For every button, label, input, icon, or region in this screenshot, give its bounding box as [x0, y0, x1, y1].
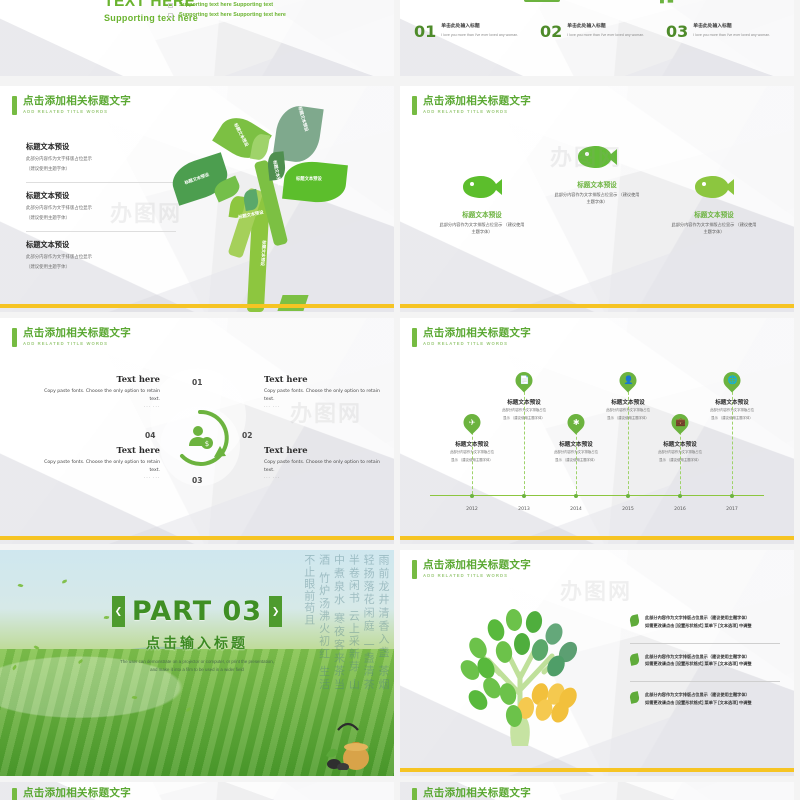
slide-bottom-right-preview[interactable]: 点击添加相关标题文字 ADD RELATED TITLE WORDS	[400, 782, 794, 800]
step-number-03: 03	[192, 476, 202, 485]
slide-leaf-tree[interactable]: 点击添加相关标题文字 ADD RELATED TITLE WORDS 标题文本预…	[0, 86, 394, 312]
slide-bottom-left-preview[interactable]: 点击添加相关标题文字 ADD RELATED TITLE WORDS	[0, 782, 394, 800]
fish-icon	[575, 144, 619, 170]
item-body: I love you more than I've ever loved any…	[693, 32, 770, 38]
slide-circular-four[interactable]: 点击添加相关标题文字 ADD RELATED TITLE WORDS $ 01 …	[0, 318, 394, 544]
list-item[interactable]: 01 单击此处输入标题 I love you more than I've ev…	[414, 22, 534, 40]
timeline-caption[interactable]: 标题文本预设 此部分内容作为文字排版占位 显示 （建议使用主题字体）	[633, 440, 727, 463]
list-item[interactable]: 02 单击此处输入标题 I love you more than I've ev…	[540, 22, 660, 40]
item-heading: 标题文本预设	[477, 398, 571, 406]
page-subtitle: ADD RELATED TITLE WORDS	[423, 342, 531, 346]
slide-green-tree[interactable]: 点击添加相关标题文字 ADD RELATED TITLE WORDS	[400, 550, 794, 776]
item-dots: ... ...	[264, 403, 384, 408]
timeline-year: 2013	[518, 507, 530, 512]
item-body-line1: 此部分内容作为文字排版占位显示（建议使用主题字体）	[645, 653, 752, 661]
page-title: 点击添加相关标题文字	[23, 788, 131, 799]
item-body-line2: 显示 （建议使用主题字体）	[633, 458, 727, 464]
step-number-04: 04	[145, 431, 155, 440]
green-accent-block	[524, 0, 560, 2]
item-body-line1: 此部分内容作为文字排版占位显示（建议使用主题字体）	[645, 614, 752, 622]
item-body-line1: 此部分内容作为文字排版占位	[425, 450, 519, 456]
timeline-year: 2015	[622, 507, 634, 512]
item-body-line2: 显示 （建议使用主题字体）	[685, 416, 779, 422]
fish-group-1[interactable]: 标题文本预设 此部分内容作为文字排版占位显示 （建议使用主题字体）	[422, 174, 542, 235]
text-block-4[interactable]: Text here Copy paste fonts. Choose the o…	[264, 445, 384, 479]
item-heading: 标题文本预设	[422, 209, 542, 219]
item-body: Copy paste fonts. Choose the only option…	[40, 459, 160, 474]
part-desc-line2: and make it into a film to be used in a …	[0, 666, 394, 674]
item-body-line2: 显示 （建议使用主题字体）	[529, 458, 623, 464]
page-title: 点击添加相关标题文字	[423, 328, 531, 339]
item-body: Copy paste fonts. Choose the only option…	[264, 459, 384, 474]
timeline-node	[678, 494, 682, 498]
item-heading: Text here	[264, 445, 384, 455]
item-heading: 标题文本预设	[26, 240, 176, 250]
footer-bar	[400, 536, 794, 540]
timeline-caption[interactable]: 标题文本预设 此部分内容作为文字排版占位 显示 （建议使用主题字体）	[425, 440, 519, 463]
list-item[interactable]: 标题文本预设 此部分内容作为文字排版占位显示 （建议使用主题字体）	[26, 191, 176, 232]
page-title: 点击添加相关标题文字	[423, 560, 531, 571]
item-body: Copy paste fonts. Choose the only option…	[40, 388, 160, 403]
item-body-line2: （建议使用主题字体）	[26, 214, 176, 221]
slide-header: 点击添加相关标题文字 ADD RELATED TITLE WORDS	[12, 96, 131, 115]
fish-group-3[interactable]: 标题文本预设 此部分内容作为文字排版占位显示 （建议使用主题字体）	[654, 174, 774, 235]
fish-icon	[460, 174, 504, 200]
template-preview-grid: TEXT HERE Supporting text here Supportin…	[0, 0, 800, 800]
page-title: 点击添加相关标题文字	[423, 96, 531, 107]
part-label: PART 03	[125, 596, 269, 627]
page-subtitle: ADD RELATED TITLE WORDS	[423, 574, 531, 578]
leaf-petal	[62, 579, 68, 583]
timeline-node	[522, 494, 526, 498]
slide-three-numbers[interactable]: ▌▋ 01 单击此处输入标题 I love you more than I've…	[400, 0, 794, 76]
timeline-year: 2017	[726, 507, 738, 512]
timeline-year: 2016	[674, 507, 686, 512]
item-body-line2: 如需更改请点击 [设置形状格式] 菜单下 [文本选项] 中调整	[645, 699, 752, 707]
item-heading: 单击此处输入标题	[567, 22, 644, 29]
page-subtitle: ADD RELATED TITLE WORDS	[23, 342, 131, 346]
text-block-1[interactable]: Text here Copy paste fonts. Choose the o…	[40, 374, 160, 408]
item-body-line1: 此部分内容作为文字排版占位	[685, 408, 779, 414]
header-accent-bar	[412, 96, 417, 115]
item-heading: 标题文本预设	[654, 209, 774, 219]
leaf-shape	[282, 159, 348, 205]
item-heading: Text here	[40, 445, 160, 455]
timeline-node	[730, 494, 734, 498]
item-body-line2: 如需更改请点击 [设置形状格式] 菜单下 [文本选项] 中调整	[645, 660, 752, 668]
slide-header: 点击添加相关标题文字 ADD RELATED TITLE WORDS	[412, 788, 531, 800]
item-heading: 标题文本预设	[425, 440, 519, 448]
chevron-left-icon[interactable]: ❮	[112, 596, 125, 627]
item-body-line2: 显示 （建议使用主题字体）	[425, 458, 519, 464]
leaf-tree-text-list: 标题文本预设 此部分内容作为文字排版占位显示 （建议使用主题字体） 标题文本预设…	[26, 142, 176, 288]
item-body-line1: 此部分内容作为文字排版占位显示	[26, 253, 176, 260]
item-heading: 标题文本预设	[529, 440, 623, 448]
text-block-3[interactable]: Text here Copy paste fonts. Choose the o…	[40, 445, 160, 479]
list-item[interactable]: 03 单击此处输入标题 I love you more than I've ev…	[666, 22, 786, 40]
item-heading: 标题文本预设	[633, 440, 727, 448]
timeline-caption[interactable]: 标题文本预设 此部分内容作为文字排版占位 显示 （建议使用主题字体）	[685, 398, 779, 421]
header-accent-bar	[412, 560, 417, 579]
header-accent-bar	[412, 788, 417, 800]
header-accent-bar	[12, 328, 17, 347]
tree-leaves	[457, 608, 581, 728]
item-body-line1: 此部分内容作为文字排版占位	[581, 408, 675, 414]
item-number: 02	[540, 24, 562, 40]
item-dots: ... ...	[264, 474, 384, 479]
square-bullet-icon	[168, 13, 173, 18]
timeline-caption[interactable]: 标题文本预设 此部分内容作为文字排版占位 显示 （建议使用主题字体）	[477, 398, 571, 421]
timeline-node	[470, 494, 474, 498]
page-title: 点击添加相关标题文字	[23, 328, 131, 339]
teapot-graphic	[324, 722, 370, 770]
page-subtitle: ADD RELATED TITLE WORDS	[423, 110, 531, 114]
leaf-icon	[629, 614, 640, 627]
timeline-node	[626, 494, 630, 498]
slide-header: 点击添加相关标题文字 ADD RELATED TITLE WORDS	[12, 788, 131, 800]
svg-text:$: $	[205, 440, 209, 448]
leaf-icon	[629, 691, 640, 704]
leaf-petal	[18, 583, 24, 588]
item-body-line1: 此部分内容作为文字排版占位	[529, 450, 623, 456]
slide-header: 点击添加相关标题文字 ADD RELATED TITLE WORDS	[412, 560, 531, 579]
part-title-group: ❮ PART 03 ❯ 点击输入标题 The user can demonstr…	[0, 596, 394, 675]
text-block-2[interactable]: Text here Copy paste fonts. Choose the o…	[264, 374, 384, 408]
item-body-line1: 此部分内容作为文字排版占位	[633, 450, 727, 456]
item-heading: Text here	[40, 374, 160, 384]
green-tree-text-list: 此部分内容作为文字排版占位显示（建议使用主题字体） 如需更改请点击 [设置形状格…	[630, 614, 780, 729]
list-item[interactable]: 此部分内容作为文字排版占位显示（建议使用主题字体） 如需更改请点击 [设置形状格…	[630, 691, 780, 720]
item-body-line1: 此部分内容作为文字排版占位	[477, 408, 571, 414]
item-body-line1: 此部分内容作为文字排版占位显示（建议使用主题字体）	[645, 691, 752, 699]
timeline-year: 2012	[466, 507, 478, 512]
header-accent-bar	[12, 96, 17, 115]
fish-icon	[692, 174, 736, 200]
item-heading: 标题文本预设	[685, 398, 779, 406]
item-body: Copy paste fonts. Choose the only option…	[264, 388, 384, 403]
item-number: 01	[414, 24, 436, 40]
timeline-caption[interactable]: 标题文本预设 此部分内容作为文字排版占位 显示 （建议使用主题字体）	[581, 398, 675, 421]
part-title-cn: 点击输入标题	[0, 633, 394, 653]
item-body-line2: （建议使用主题字体）	[26, 263, 176, 270]
item-heading: 标题文本预设	[26, 142, 176, 152]
cover-bullet-text: Supporting text here Supporting text	[179, 2, 273, 8]
slide-header: 点击添加相关标题文字 ADD RELATED TITLE WORDS	[412, 328, 531, 347]
item-heading: 标题文本预设	[537, 179, 657, 189]
timeline-node	[574, 494, 578, 498]
item-body: 此部分内容作为文字排版占位显示 （建议使用主题字体）	[422, 222, 542, 235]
footer-accent	[277, 295, 308, 311]
slide-header: 点击添加相关标题文字 ADD RELATED TITLE WORDS	[412, 96, 531, 115]
step-number-02: 02	[242, 431, 252, 440]
item-heading: 单击此处输入标题	[693, 22, 770, 29]
slide-part-03[interactable]: 雨前龙井清香入盏 茶烟轻扬落花闲庭 一盏清茶半卷闲书 云上采新芽 山中煮泉水 寒…	[0, 550, 394, 776]
fish-group-2[interactable]: 标题文本预设 此部分内容作为文字排版占位显示 （建议使用主题字体）	[537, 144, 657, 205]
header-accent-bar	[412, 328, 417, 347]
page-subtitle: ADD RELATED TITLE WORDS	[23, 110, 131, 114]
item-body: I love you more than I've ever loved any…	[567, 32, 644, 38]
footer-bar	[400, 768, 794, 772]
item-body: I love you more than I've ever loved any…	[441, 32, 518, 38]
slide-cover-preview[interactable]: TEXT HERE Supporting text here Supportin…	[0, 0, 394, 76]
item-body: 此部分内容作为文字排版占位显示 （建议使用主题字体）	[654, 222, 774, 235]
slide-timeline[interactable]: 点击添加相关标题文字 ADD RELATED TITLE WORDS 2012 …	[400, 318, 794, 544]
cover-bullets: Supporting text here Supporting text Sup…	[168, 2, 286, 22]
part-desc-line1: The user can demonstrate on a projector …	[0, 658, 394, 666]
square-bullet-icon	[168, 3, 173, 8]
numbered-items: 01 单击此处输入标题 I love you more than I've ev…	[414, 22, 786, 40]
item-dots: ... ...	[40, 474, 160, 479]
item-heading: 标题文本预设	[581, 398, 675, 406]
header-accent-bar	[12, 788, 17, 800]
footer-bar	[0, 536, 394, 540]
page-title: 点击添加相关标题文字	[423, 788, 531, 799]
leaf-label: 标题文本预设	[296, 176, 322, 182]
leaf-tree-graphic: 标题文本预设 标题文本预设 标题文本预设 标题文本预设 标题文本预设 标题文本预…	[164, 100, 394, 312]
step-number-01: 01	[192, 378, 202, 387]
item-heading: 单击此处输入标题	[441, 22, 518, 29]
green-tree-graphic	[448, 594, 598, 746]
list-item[interactable]: 标题文本预设 此部分内容作为文字排版占位显示 （建议使用主题字体）	[26, 142, 176, 183]
slide-header: 点击添加相关标题文字 ADD RELATED TITLE WORDS	[12, 328, 131, 347]
presentation-icon: ▌▋	[660, 0, 676, 3]
page-title: 点击添加相关标题文字	[23, 96, 131, 107]
slide-fish[interactable]: 点击添加相关标题文字 ADD RELATED TITLE WORDS 标题文本预…	[400, 86, 794, 312]
leaf-icon	[629, 653, 640, 666]
list-item: Supporting text here Supporting text her…	[168, 12, 286, 18]
item-body: 此部分内容作为文字排版占位显示 （建议使用主题字体）	[537, 192, 657, 205]
timeline-year: 2014	[570, 507, 582, 512]
item-heading: 标题文本预设	[26, 191, 176, 201]
timeline-axis	[430, 495, 764, 496]
user-refresh-icon: $	[189, 426, 213, 449]
list-item[interactable]: 标题文本预设 此部分内容作为文字排版占位显示 （建议使用主题字体）	[26, 240, 176, 280]
item-body-line1: 此部分内容作为文字排版占位显示	[26, 155, 176, 162]
list-item: Supporting text here Supporting text	[168, 2, 286, 8]
timeline-caption[interactable]: 标题文本预设 此部分内容作为文字排版占位 显示 （建议使用主题字体）	[529, 440, 623, 463]
footer-bar	[400, 304, 794, 308]
item-body-line1: 此部分内容作为文字排版占位显示	[26, 204, 176, 211]
item-number: 03	[666, 24, 688, 40]
item-body-line2: 显示 （建议使用主题字体）	[581, 416, 675, 422]
center-diagram: $	[168, 406, 232, 475]
item-heading: Text here	[264, 374, 384, 384]
list-item[interactable]: 此部分内容作为文字排版占位显示（建议使用主题字体） 如需更改请点击 [设置形状格…	[630, 653, 780, 683]
list-item[interactable]: 此部分内容作为文字排版占位显示（建议使用主题字体） 如需更改请点击 [设置形状格…	[630, 614, 780, 644]
cover-bullet-text: Supporting text here Supporting text her…	[179, 12, 286, 18]
item-dots: ... ...	[40, 403, 160, 408]
item-body-line2: 显示 （建议使用主题字体）	[477, 416, 571, 422]
item-body-line2: （建议使用主题字体）	[26, 165, 176, 172]
footer-bar	[0, 304, 394, 308]
chevron-right-icon[interactable]: ❯	[269, 596, 282, 627]
item-body-line2: 如需更改请点击 [设置形状格式] 菜单下 [文本选项] 中调整	[645, 622, 752, 630]
